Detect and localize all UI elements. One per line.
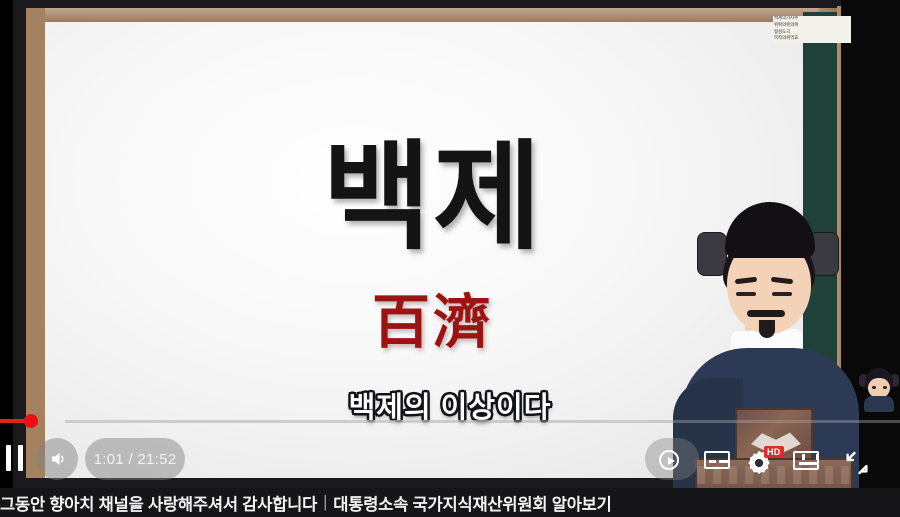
- board-frame-top: [26, 8, 848, 22]
- video-stage[interactable]: 백제 百濟 백제의가자추 위위의위의위 형성도곡 목작의위역효: [0, 0, 900, 488]
- progress-buffer: [65, 420, 495, 423]
- gat-hat-icon: [725, 202, 815, 258]
- video-player-page: 백제 百濟 백제의가자추 위위의위의위 형성도곡 목작의위역효: [0, 0, 900, 517]
- title-separator: |: [317, 493, 333, 512]
- pause-button[interactable]: [0, 442, 28, 474]
- time-display: 1:01 / 21:52: [85, 438, 185, 480]
- chalkboard-notes: 백제의가자추 위위의위의위 형성도곡 목작의위역효: [773, 16, 851, 78]
- time-text: 1:01 / 21:52: [94, 451, 177, 468]
- progress-handle[interactable]: [24, 414, 38, 428]
- video-title-bar[interactable]: 그동안 향아치 채널을 사랑해주셔서 감사합니다 | 대통령소속 국가지식재산위…: [0, 488, 900, 517]
- miniplayer-icon[interactable]: [792, 450, 820, 470]
- video-title-left: 그동안 향아치 채널을 사랑해주셔서 감사합니다: [0, 491, 317, 515]
- quality-badge[interactable]: HD: [764, 446, 784, 458]
- chalk-note-line: 목작의위역효: [773, 36, 851, 43]
- chalk-note-line: 백제의가자추: [773, 16, 851, 23]
- volume-speaker-icon[interactable]: [50, 450, 68, 468]
- play-icon[interactable]: [659, 450, 679, 470]
- progress-bar[interactable]: [0, 412, 900, 428]
- video-title-right: 대통령소속 국가지식재산위원회 알아보기: [333, 491, 611, 515]
- closed-captions-icon[interactable]: [703, 450, 731, 470]
- progress-track: [495, 420, 900, 423]
- control-bar: 1:01 / 21:52 HD: [0, 428, 900, 488]
- player-controls: 1:01 / 21:52 HD: [0, 412, 900, 488]
- chalk-note-line: 위위의위의위: [773, 23, 851, 30]
- fullscreen-icon[interactable]: [842, 448, 872, 478]
